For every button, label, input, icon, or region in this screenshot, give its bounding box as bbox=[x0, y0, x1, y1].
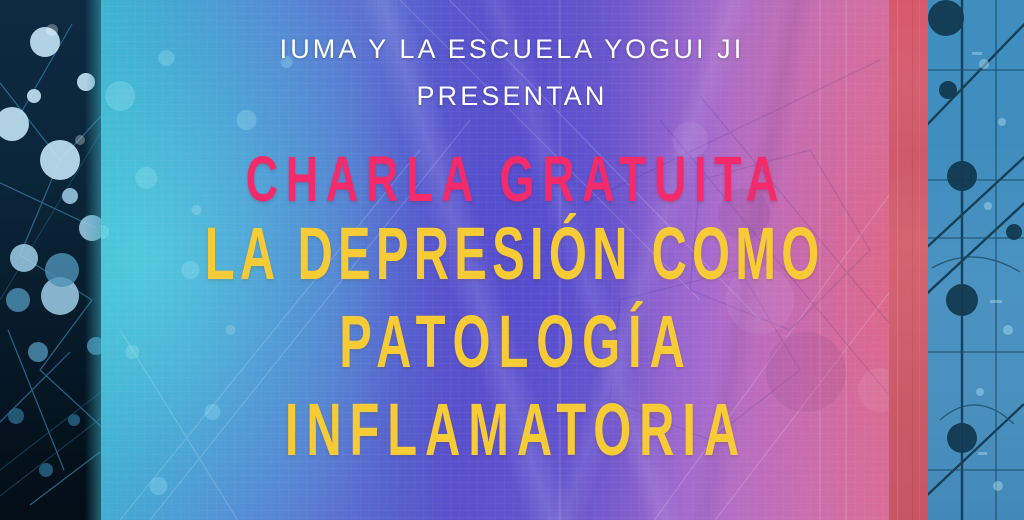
headline-title-line-3: INFLAMATORIA bbox=[174, 386, 850, 474]
poster-content: IUMA Y LA ESCUELA YOGUI JI PRESENTAN CHA… bbox=[0, 0, 1024, 520]
headline-title-line-1: LA DEPRESIÓN COMO bbox=[174, 210, 850, 298]
kicker-line-1: IUMA Y LA ESCUELA YOGUI JI bbox=[0, 26, 1024, 73]
headline-title-line-2: PATOLOGÍA bbox=[174, 298, 850, 386]
headline-stack: CHARLA GRATUITA LA DEPRESIÓN COMO PATOLO… bbox=[0, 148, 1024, 474]
event-poster: IUMA Y LA ESCUELA YOGUI JI PRESENTAN CHA… bbox=[0, 0, 1024, 520]
headline-highlight: CHARLA GRATUITA bbox=[154, 148, 871, 210]
presenter-kicker: IUMA Y LA ESCUELA YOGUI JI PRESENTAN bbox=[0, 26, 1024, 120]
kicker-line-2: PRESENTAN bbox=[0, 73, 1024, 120]
